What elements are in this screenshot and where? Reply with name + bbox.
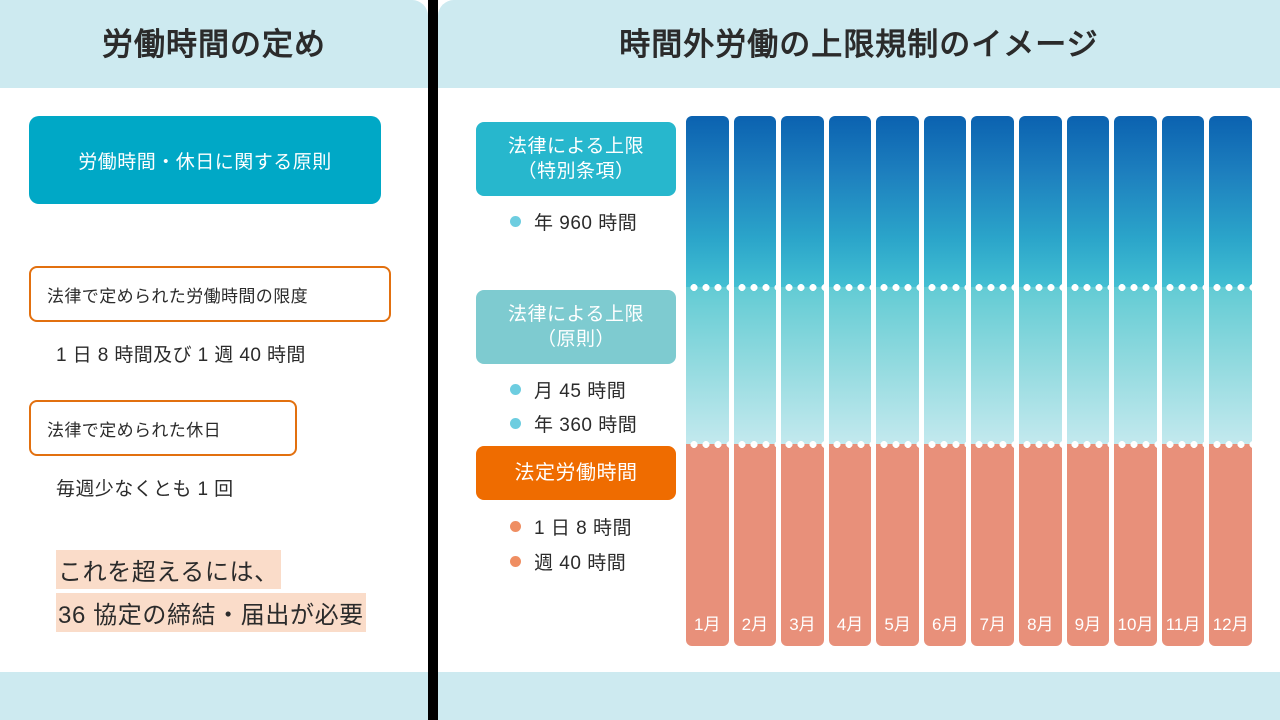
legend-principle-line2: （原則） bbox=[537, 327, 615, 352]
bar-segment-principle bbox=[829, 287, 872, 444]
legal-holiday-value: 毎週少なくとも 1 回 bbox=[56, 474, 234, 501]
bar-month-label: 8月 bbox=[1019, 610, 1062, 635]
footer-band bbox=[0, 672, 1280, 720]
bullet-special-year-960-label: 年 960 時間 bbox=[534, 208, 637, 235]
threshold-dotted-line bbox=[1114, 284, 1157, 291]
threshold-dotted-line bbox=[686, 284, 729, 291]
chart-bar: 1月 bbox=[686, 116, 729, 646]
threshold-dotted-line bbox=[1209, 284, 1252, 291]
highlight-line-2-wrap: 36 協定の締結・届出が必要 bbox=[56, 593, 366, 632]
bar-segment-special-clause bbox=[781, 116, 824, 287]
bar-month-label: 6月 bbox=[924, 610, 967, 635]
chart-bar: 4月 bbox=[829, 116, 872, 646]
threshold-dotted-line bbox=[829, 441, 872, 448]
bullet-dot-icon bbox=[510, 556, 521, 567]
bar-segment-principle bbox=[876, 287, 919, 444]
threshold-dotted-line bbox=[1019, 441, 1062, 448]
bar-segment-special-clause bbox=[734, 116, 777, 287]
threshold-dotted-line bbox=[1067, 284, 1110, 291]
legal-working-hours-limit-box: 法律で定められた労働時間の限度 bbox=[29, 266, 391, 322]
bar-month-label: 9月 bbox=[1067, 610, 1110, 635]
panel-divider bbox=[428, 0, 438, 720]
bullet-dot-icon bbox=[510, 384, 521, 395]
legend-principle-line1: 法律による上限 bbox=[508, 302, 644, 327]
right-panel-title: 時間外労働の上限規制のイメージ bbox=[619, 29, 1098, 60]
legend-special-clause: 法律による上限 （特別条項） bbox=[476, 122, 676, 196]
bullet-principle-year-360-label: 年 360 時間 bbox=[534, 410, 637, 437]
threshold-dotted-line bbox=[1162, 284, 1205, 291]
threshold-dotted-line bbox=[876, 441, 919, 448]
bullet-dot-icon bbox=[510, 521, 521, 532]
bullet-principle-year-360: 年 360 時間 bbox=[510, 410, 637, 437]
threshold-dotted-line bbox=[1209, 441, 1252, 448]
bar-segment-principle bbox=[1209, 287, 1252, 444]
left-panel: 労働時間の定め 労働時間・休日に関する原則 法律で定められた労働時間の限度 1 … bbox=[0, 0, 428, 672]
threshold-dotted-line bbox=[1114, 441, 1157, 448]
bar-segment-special-clause bbox=[876, 116, 919, 287]
chart-bars: 1月2月3月4月5月6月7月8月9月10月11月12月 bbox=[686, 116, 1252, 646]
bullet-dot-icon bbox=[510, 418, 521, 429]
legal-working-hours-limit-label: 法律で定められた労働時間の限度 bbox=[31, 282, 308, 307]
legend-statutory-working-hours: 法定労働時間 bbox=[476, 446, 676, 500]
chart-bar: 5月 bbox=[876, 116, 919, 646]
bar-month-label: 7月 bbox=[971, 610, 1014, 635]
legal-holiday-label: 法律で定められた休日 bbox=[31, 416, 221, 441]
threshold-dotted-line bbox=[781, 441, 824, 448]
overtime-stacked-bar-chart: 1月2月3月4月5月6月7月8月9月10月11月12月 bbox=[686, 116, 1252, 646]
threshold-dotted-line bbox=[1019, 284, 1062, 291]
chart-bar: 12月 bbox=[1209, 116, 1252, 646]
bullet-statutory-week-40: 週 40 時間 bbox=[510, 548, 626, 575]
highlight-line-2: 36 協定の締結・届出が必要 bbox=[56, 593, 366, 632]
threshold-dotted-line bbox=[971, 284, 1014, 291]
chart-bar: 8月 bbox=[1019, 116, 1062, 646]
legal-working-hours-limit-value: 1 日 8 時間及び 1 週 40 時間 bbox=[56, 340, 306, 367]
bar-segment-special-clause bbox=[1019, 116, 1062, 287]
bar-segment-principle bbox=[734, 287, 777, 444]
legend-principle: 法律による上限 （原則） bbox=[476, 290, 676, 364]
threshold-dotted-line bbox=[734, 284, 777, 291]
bullet-dot-icon bbox=[510, 216, 521, 227]
bar-month-label: 12月 bbox=[1209, 610, 1252, 635]
bar-segment-special-clause bbox=[1209, 116, 1252, 287]
bar-month-label: 10月 bbox=[1114, 610, 1157, 635]
bar-segment-special-clause bbox=[829, 116, 872, 287]
highlight-line-1-wrap: これを超えるには、 bbox=[56, 550, 281, 589]
threshold-dotted-line bbox=[686, 441, 729, 448]
bullet-statutory-day-8: 1 日 8 時間 bbox=[510, 513, 632, 540]
bar-segment-principle bbox=[1019, 287, 1062, 444]
left-panel-title: 労働時間の定め bbox=[102, 29, 326, 60]
bar-month-label: 2月 bbox=[734, 610, 777, 635]
bullet-principle-month-45: 月 45 時間 bbox=[510, 376, 626, 403]
infographic-root: 労働時間の定め 労働時間・休日に関する原則 法律で定められた労働時間の限度 1 … bbox=[0, 0, 1280, 720]
threshold-dotted-line bbox=[1067, 441, 1110, 448]
chart-bar: 7月 bbox=[971, 116, 1014, 646]
chart-bar: 9月 bbox=[1067, 116, 1110, 646]
legend-statutory-line1: 法定労働時間 bbox=[515, 460, 638, 486]
principle-pill: 労働時間・休日に関する原則 bbox=[29, 116, 381, 204]
bullet-special-year-960: 年 960 時間 bbox=[510, 208, 637, 235]
bar-segment-special-clause bbox=[686, 116, 729, 287]
bar-segment-special-clause bbox=[1067, 116, 1110, 287]
chart-bar: 11月 bbox=[1162, 116, 1205, 646]
bar-segment-principle bbox=[686, 287, 729, 444]
bar-month-label: 1月 bbox=[686, 610, 729, 635]
threshold-dotted-line bbox=[734, 441, 777, 448]
principle-pill-label: 労働時間・休日に関する原則 bbox=[78, 147, 332, 174]
threshold-dotted-line bbox=[924, 441, 967, 448]
legend-special-clause-line2: （特別条項） bbox=[517, 159, 634, 184]
bar-segment-special-clause bbox=[1162, 116, 1205, 287]
threshold-dotted-line bbox=[1162, 441, 1205, 448]
bar-segment-principle bbox=[1162, 287, 1205, 444]
threshold-dotted-line bbox=[829, 284, 872, 291]
bar-segment-principle bbox=[971, 287, 1014, 444]
legend-special-clause-line1: 法律による上限 bbox=[508, 134, 644, 159]
chart-bar: 2月 bbox=[734, 116, 777, 646]
bar-segment-principle bbox=[924, 287, 967, 444]
chart-bar: 10月 bbox=[1114, 116, 1157, 646]
bar-segment-special-clause bbox=[924, 116, 967, 287]
threshold-dotted-line bbox=[876, 284, 919, 291]
bullet-statutory-day-8-label: 1 日 8 時間 bbox=[534, 513, 632, 540]
highlight-line-1: これを超えるには、 bbox=[56, 550, 281, 589]
threshold-dotted-line bbox=[971, 441, 1014, 448]
bar-segment-principle bbox=[1067, 287, 1110, 444]
right-panel-body: 法律による上限 （特別条項） 年 960 時間 法律による上限 （原則） 月 4… bbox=[438, 88, 1280, 672]
bar-segment-special-clause bbox=[1114, 116, 1157, 287]
bullet-principle-month-45-label: 月 45 時間 bbox=[534, 376, 626, 403]
bar-month-label: 4月 bbox=[829, 610, 872, 635]
bar-segment-principle bbox=[781, 287, 824, 444]
left-panel-header: 労働時間の定め bbox=[0, 0, 428, 88]
bar-month-label: 11月 bbox=[1162, 610, 1205, 635]
threshold-dotted-line bbox=[781, 284, 824, 291]
bar-month-label: 5月 bbox=[876, 610, 919, 635]
legal-holiday-box: 法律で定められた休日 bbox=[29, 400, 297, 456]
bullet-statutory-week-40-label: 週 40 時間 bbox=[534, 548, 626, 575]
left-panel-body: 労働時間・休日に関する原則 法律で定められた労働時間の限度 1 日 8 時間及び… bbox=[0, 88, 428, 672]
threshold-dotted-line bbox=[924, 284, 967, 291]
bar-segment-special-clause bbox=[971, 116, 1014, 287]
right-panel-header: 時間外労働の上限規制のイメージ bbox=[438, 0, 1280, 88]
bar-month-label: 3月 bbox=[781, 610, 824, 635]
chart-bar: 3月 bbox=[781, 116, 824, 646]
chart-bar: 6月 bbox=[924, 116, 967, 646]
bar-segment-principle bbox=[1114, 287, 1157, 444]
